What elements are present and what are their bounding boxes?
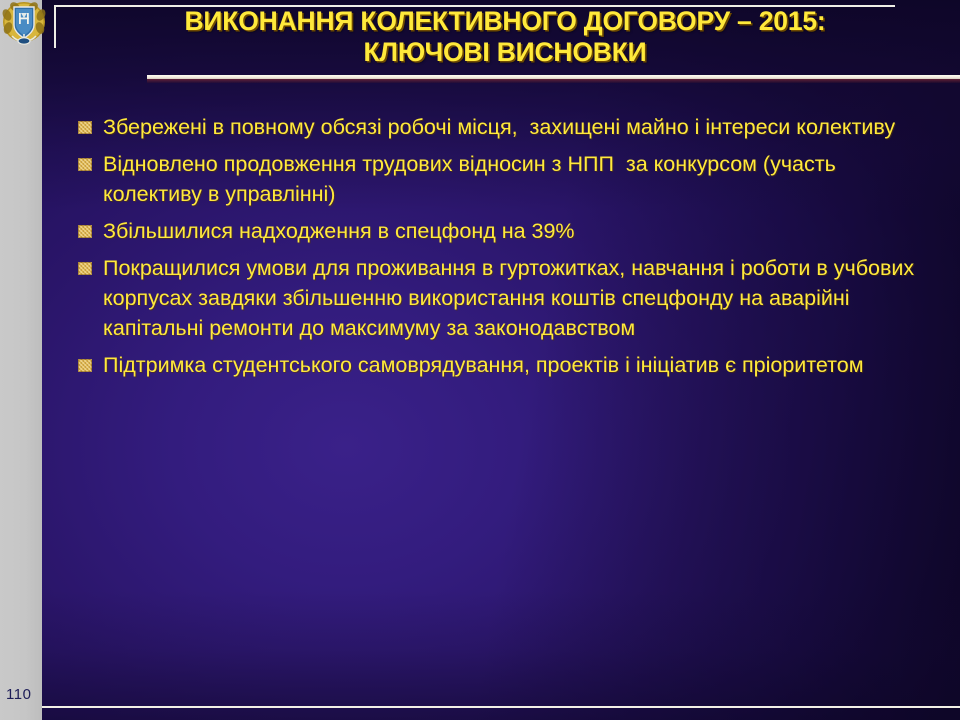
coat-of-arms-icon	[2, 1, 46, 47]
footer-rule	[42, 706, 960, 708]
presentation-slide: 110	[0, 0, 960, 720]
bullet-square-icon	[78, 225, 92, 238]
background-bottom-shading	[0, 590, 960, 720]
title-underline-shadow	[147, 79, 960, 83]
list-item: Відновлено продовження трудових відносин…	[78, 149, 923, 209]
list-item: Покращилися умови для проживання в гурто…	[78, 253, 923, 343]
bullet-square-icon	[78, 359, 92, 372]
header-left-rule	[54, 5, 56, 48]
bullet-square-icon	[78, 158, 92, 171]
bullet-list: Збережені в повному обсязі робочі місця,…	[78, 112, 923, 387]
slide-title: ВИКОНАННЯ КОЛЕКТИВНОГО ДОГОВОРУ – 2015: …	[110, 6, 900, 68]
left-sidebar	[0, 0, 42, 720]
list-item-text: Покращилися умови для проживання в гурто…	[103, 253, 923, 343]
bullet-square-icon	[78, 121, 92, 134]
list-item-text: Відновлено продовження трудових відносин…	[103, 149, 923, 209]
list-item-text: Збережені в повному обсязі робочі місця,…	[103, 112, 923, 142]
list-item-text: Підтримка студентського самоврядування, …	[103, 350, 923, 380]
list-item: Підтримка студентського самоврядування, …	[78, 350, 923, 380]
list-item-text: Збільшилися надходження в спецфонд на 39…	[103, 216, 923, 246]
list-item: Збільшилися надходження в спецфонд на 39…	[78, 216, 923, 246]
bullet-square-icon	[78, 262, 92, 275]
list-item: Збережені в повному обсязі робочі місця,…	[78, 112, 923, 142]
slide-number: 110	[6, 686, 31, 703]
